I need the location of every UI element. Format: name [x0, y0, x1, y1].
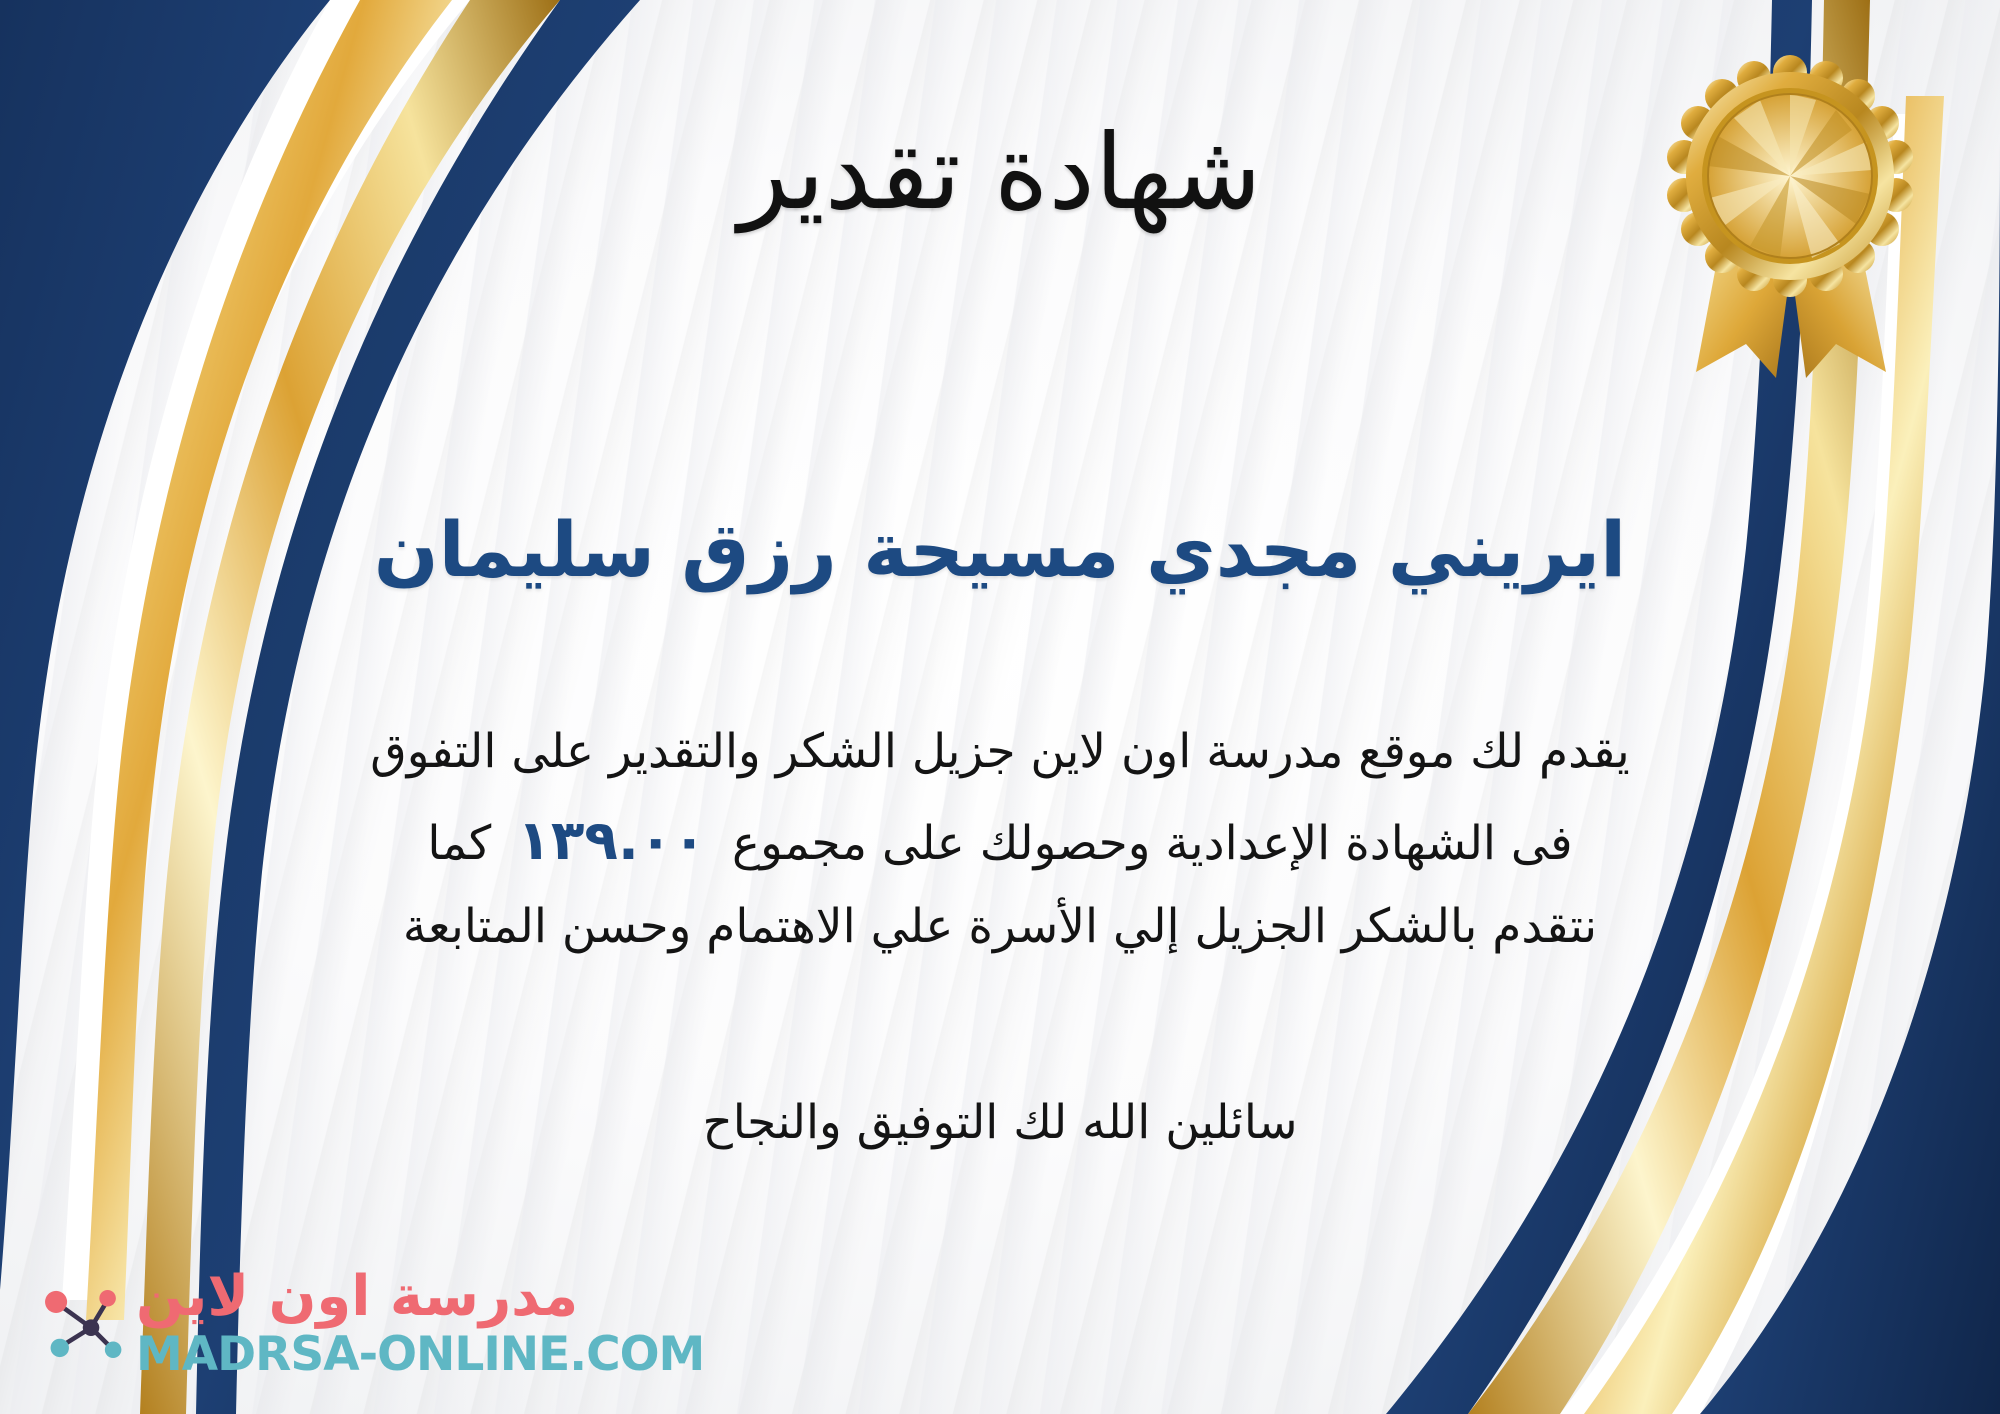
brand-logo[interactable]: مدرسة اون لاين MADRSA-ONLINE.COM: [34, 1269, 504, 1378]
body-line-1: يقدم لك موقع مدرسة اون لاين جزيل الشكر و…: [90, 712, 1910, 793]
body-line-2-prefix: فى الشهادة الإعدادية وحصولك على مجموع: [732, 816, 1573, 871]
body-line-2: فى الشهادة الإعدادية وحصولك على مجموع١٣٩…: [90, 793, 1910, 888]
grade-total-value: ١٣٩.٠٠: [491, 808, 732, 872]
closing-wish: سائلين الله لك التوفيق والنجاح: [0, 1095, 2000, 1150]
certificate-page: شهادة تقدير ايريني مجدي مسيحة رزق سليمان…: [0, 0, 2000, 1414]
page-title: شهادة تقدير: [0, 118, 2000, 227]
recipient-name: ايريني مجدي مسيحة رزق سليمان: [0, 505, 2000, 595]
certificate-content: شهادة تقدير ايريني مجدي مسيحة رزق سليمان…: [0, 0, 2000, 1414]
brand-name-arabic: مدرسة اون لاين: [136, 1269, 578, 1325]
brand-name-english: MADRSA-ONLINE.COM: [136, 1331, 704, 1378]
body-line-3: نتقدم بالشكر الجزيل إلي الأسرة علي الاهت…: [90, 887, 1910, 968]
network-nodes-icon: [34, 1278, 126, 1370]
body-line-2-suffix: كما: [427, 816, 491, 871]
brand-wordmark: مدرسة اون لاين MADRSA-ONLINE.COM: [136, 1269, 704, 1378]
certificate-body: يقدم لك موقع مدرسة اون لاين جزيل الشكر و…: [90, 712, 1910, 968]
